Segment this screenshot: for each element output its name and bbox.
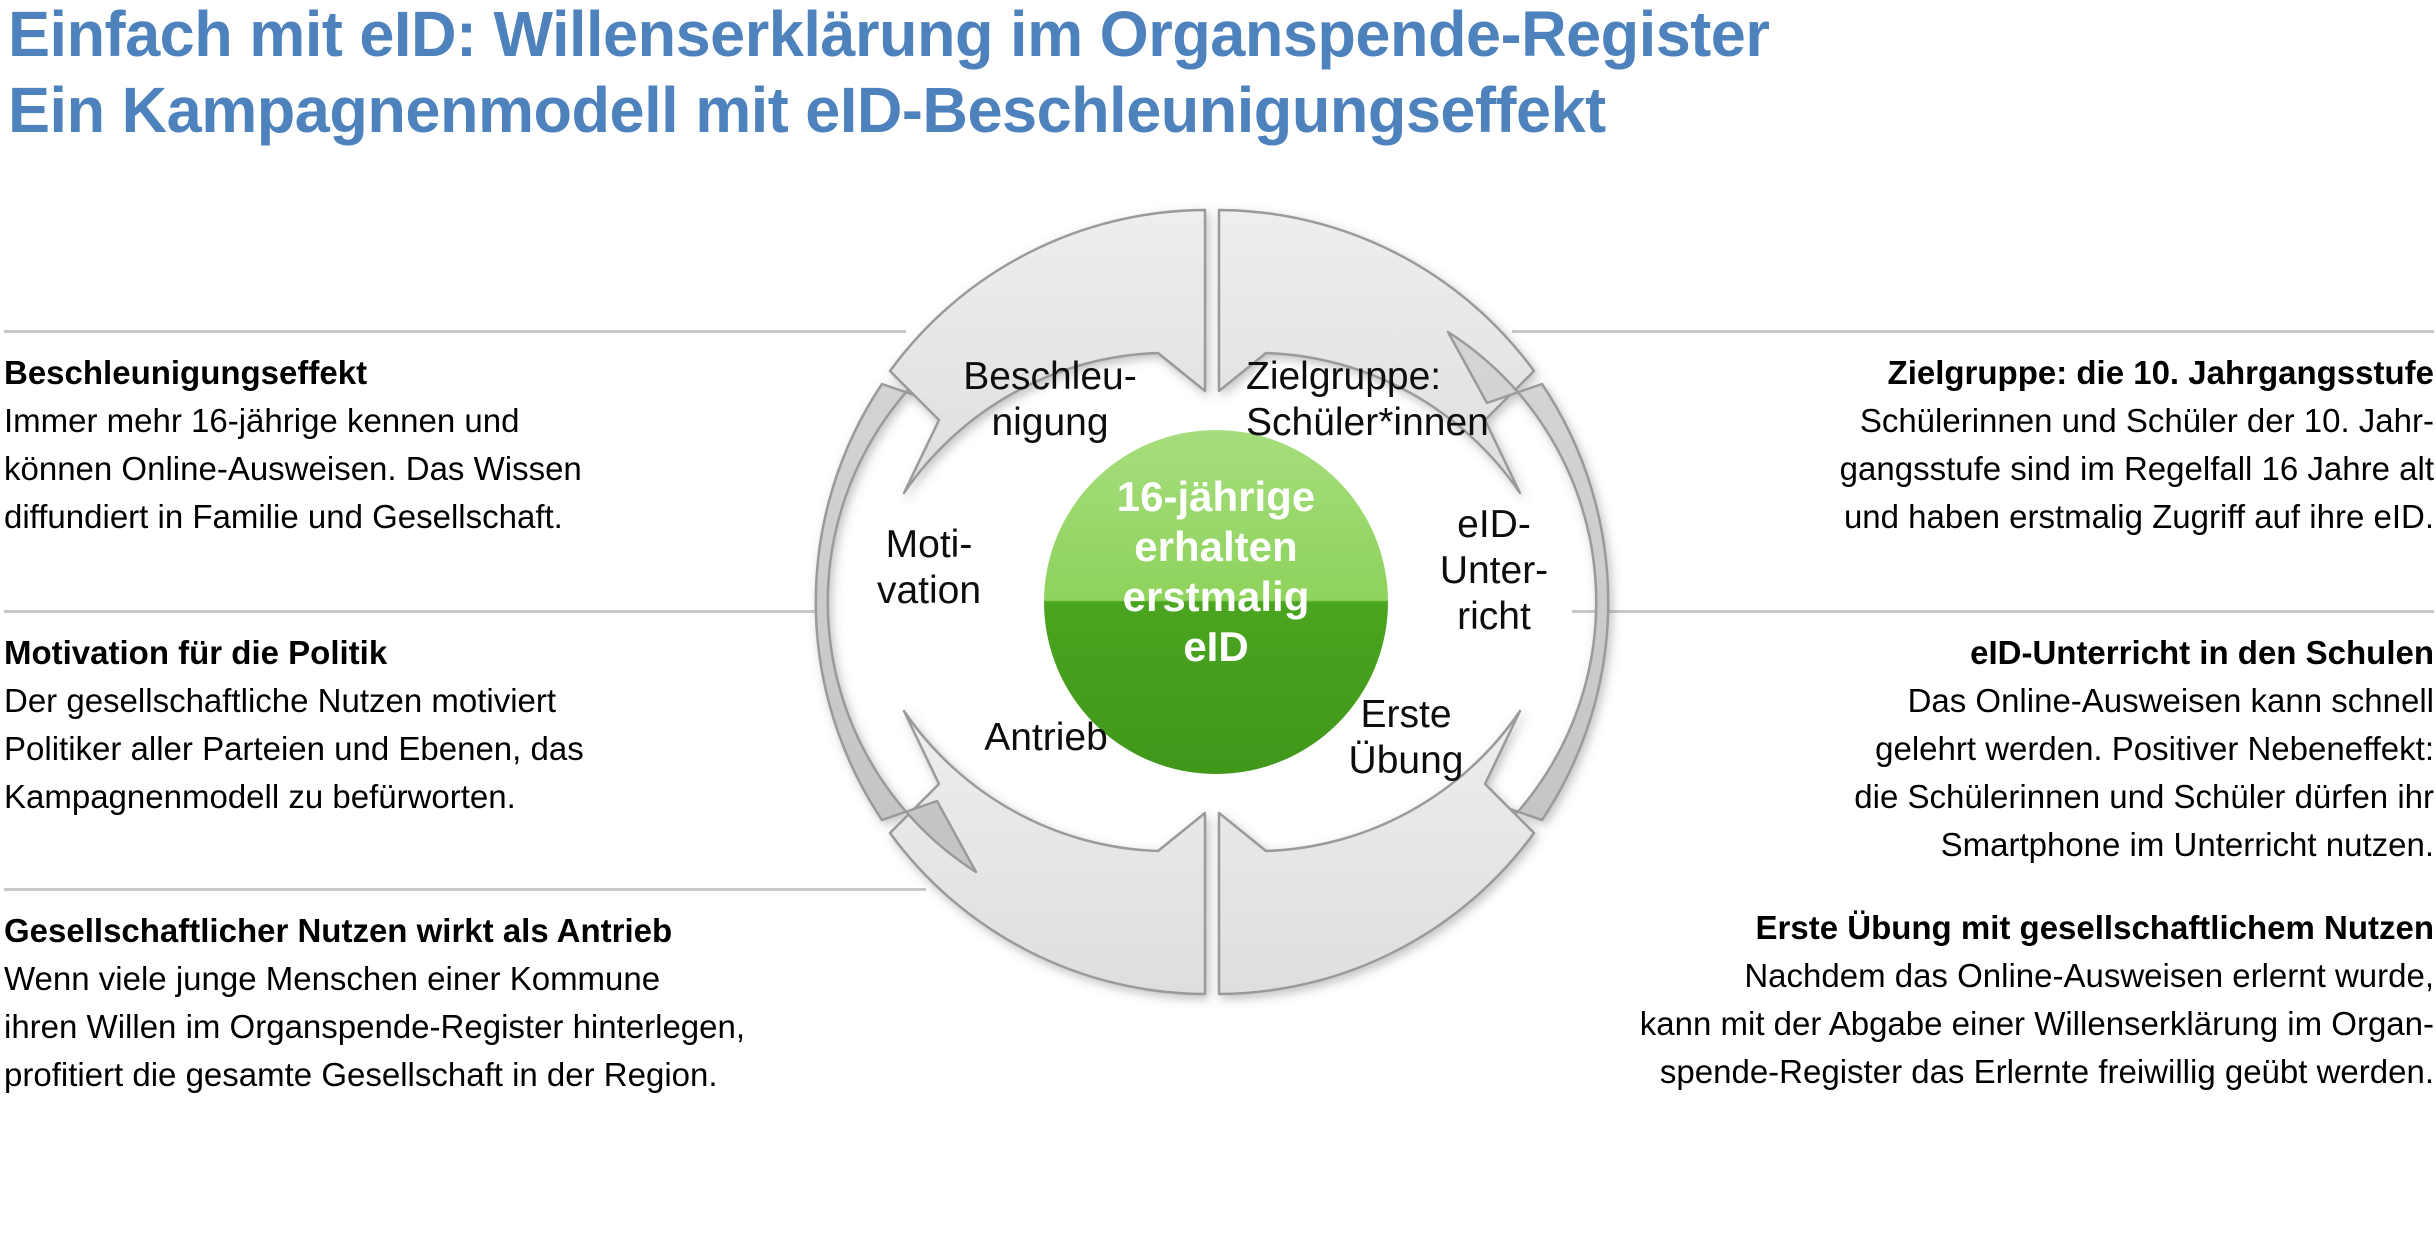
block-body: Schülerinnen und Schüler der 10. Jahr- g… (1494, 397, 2434, 541)
block-heading: eID-Unterricht in den Schulen (1494, 629, 2434, 677)
body-line: Schülerinnen und Schüler der 10. Jahr- (1494, 397, 2434, 445)
body-line: ihren Willen im Organspende-Register hin… (4, 1003, 944, 1051)
body-line: gangsstufe sind im Regelfall 16 Jahre al… (1494, 445, 2434, 493)
body-line: Kampagnenmodell zu befürworten. (4, 773, 944, 821)
text-block-eid-unterricht: eID-Unterricht in den Schulen Das Online… (1494, 610, 2434, 869)
block-heading: Motivation für die Politik (4, 629, 944, 677)
page-title: Einfach mit eID: Willenserklärung im Org… (8, 0, 2428, 148)
divider-line (4, 610, 826, 613)
body-line: können Online-Ausweisen. Das Wissen (4, 445, 944, 493)
body-line: Politiker aller Parteien und Ebenen, das (4, 725, 944, 773)
title-line-2: Ein Kampagnenmodell mit eID-Beschleunigu… (8, 72, 2392, 148)
block-body: Wenn viele junge Menschen einer Kommune … (4, 955, 944, 1099)
body-line: Der gesellschaftliche Nutzen motiviert (4, 677, 944, 725)
cycle-svg (806, 192, 1626, 1012)
divider-line (4, 888, 926, 891)
block-body: Der gesellschaftliche Nutzen motiviert P… (4, 677, 944, 821)
body-line: Wenn viele junge Menschen einer Kommune (4, 955, 944, 1003)
text-block-gesellschaftlicher-nutzen: Gesellschaftlicher Nutzen wirkt als Antr… (4, 888, 944, 1099)
title-line-1: Einfach mit eID: Willenserklärung im Org… (8, 0, 2392, 72)
body-line: Smartphone im Unterricht nutzen. (1494, 821, 2434, 869)
block-body: Immer mehr 16-jährige kennen und können … (4, 397, 944, 541)
cycle-diagram: Zielgruppe: Schüler*innen eID- Unter- ri… (806, 192, 1626, 1012)
body-line: profitiert die gesamte Gesellschaft in d… (4, 1051, 944, 1099)
block-heading: Beschleunigungseffekt (4, 349, 944, 397)
text-block-motivation-politik: Motivation für die Politik Der gesellsch… (4, 610, 944, 821)
divider-line (1572, 610, 2434, 613)
block-heading: Gesellschaftlicher Nutzen wirkt als Antr… (4, 907, 944, 955)
center-circle[interactable] (1044, 430, 1388, 774)
divider-line (1512, 330, 2434, 333)
divider-line (4, 330, 906, 333)
text-block-zielgruppe: Zielgruppe: die 10. Jahrgangsstufe Schül… (1494, 330, 2434, 541)
block-body: Das Online-Ausweisen kann schnell gelehr… (1494, 677, 2434, 869)
block-heading: Zielgruppe: die 10. Jahrgangsstufe (1494, 349, 2434, 397)
body-line: die Schülerinnen und Schüler dürfen ihr (1494, 773, 2434, 821)
text-block-beschleunigungseffekt: Beschleunigungseffekt Immer mehr 16-jähr… (4, 330, 944, 541)
body-line: gelehrt werden. Positiver Nebeneffekt: (1494, 725, 2434, 773)
body-line: Immer mehr 16-jährige kennen und (4, 397, 944, 445)
body-line: spende-Register das Erlernte freiwillig … (1384, 1048, 2434, 1096)
body-line: Das Online-Ausweisen kann schnell (1494, 677, 2434, 725)
body-line: und haben erstmalig Zugriff auf ihre eID… (1494, 493, 2434, 541)
body-line: diffundiert in Familie und Gesellschaft. (4, 493, 944, 541)
